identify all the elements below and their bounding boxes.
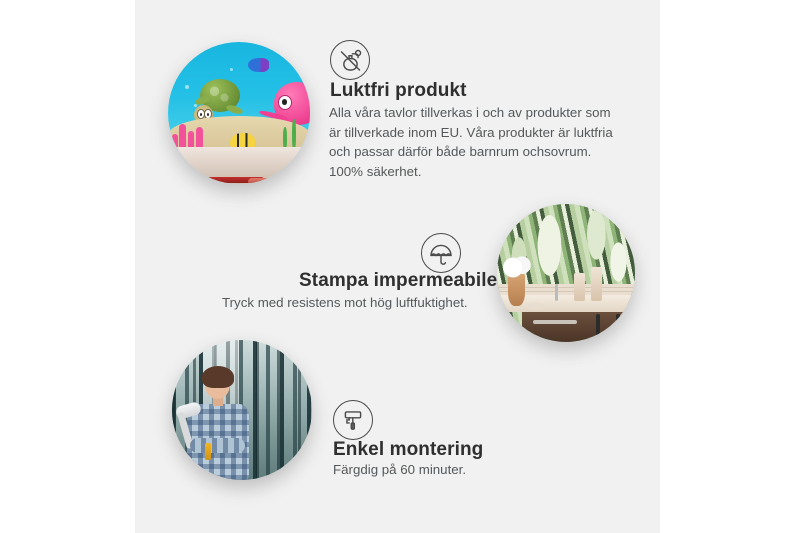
toiletry-bottle <box>574 273 585 301</box>
hair <box>202 366 234 388</box>
yellow-tool <box>205 443 211 460</box>
drawer-pull <box>533 320 577 324</box>
cabinet-handle <box>616 314 620 336</box>
feature-body: Färgdig på 60 minuter. <box>333 462 466 477</box>
no-scent-perfume-bottle-icon <box>330 40 370 80</box>
feature-title: Luktfri produkt <box>330 80 467 102</box>
paint-roller-icon <box>333 400 373 440</box>
umbrella-icon <box>421 233 461 273</box>
underwater-kids-mural-photo <box>168 42 310 184</box>
feature-body: Tryck med resistens mot hög luftfuktighe… <box>222 295 468 310</box>
octopus-eye <box>278 95 292 110</box>
woman-with-paint-roller-forest-wallpaper-photo <box>172 340 312 480</box>
infographic-canvas: Luktfri produkt Alla våra tavlor tillver… <box>0 0 800 533</box>
blue-fish <box>248 58 269 72</box>
room-interior-strip <box>168 147 310 184</box>
cabinet-handle <box>596 314 600 336</box>
room-cushion <box>248 178 285 183</box>
water-bubble-dot <box>185 85 189 89</box>
white-flowers <box>501 256 531 278</box>
sink-faucet <box>555 284 558 301</box>
feature-body: Alla våra tavlor tillverkas i och av pro… <box>329 103 621 181</box>
seaweed <box>292 119 296 150</box>
folded-arms <box>190 438 245 452</box>
turtle-fin <box>225 104 243 115</box>
woman-figure <box>183 371 267 480</box>
feature-title: Enkel montering <box>333 439 483 461</box>
toiletry-bottle <box>591 267 602 300</box>
bathroom-botanical-wallpaper-photo <box>497 204 635 342</box>
coral-branch <box>179 124 186 150</box>
feature-title: Stampa impermeabile <box>299 270 497 292</box>
